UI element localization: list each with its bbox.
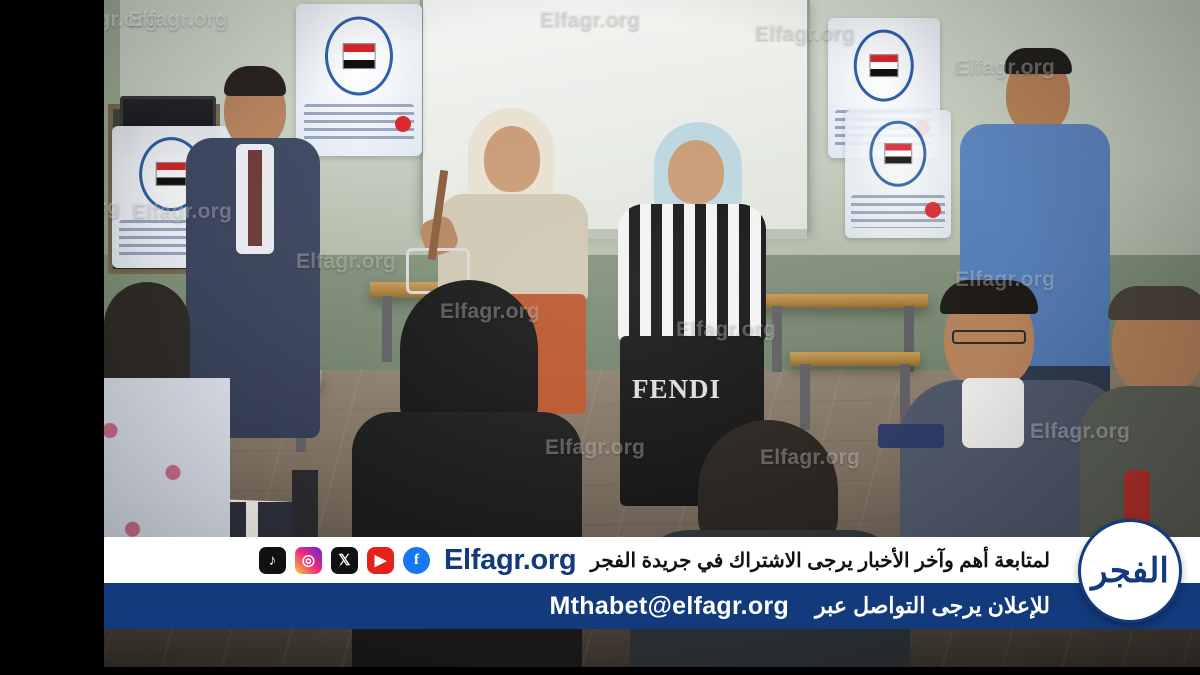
poster-flag-3: [869, 54, 898, 78]
facebook-icon[interactable]: f: [403, 547, 430, 574]
desk-leg: [772, 306, 782, 372]
necktie: [248, 150, 262, 246]
promo-banner: ♪ ◎ 𝕏 ▶ f Elfagr.org لمتابعة أهم وآخر ال…: [104, 537, 1200, 629]
screenshot-root: FENDI: [0, 0, 1200, 675]
poster-dot-4: [925, 202, 941, 218]
patterned-sweater: [618, 204, 766, 344]
eyeglasses: [952, 330, 1026, 344]
elfagr-logo: الفجر: [1078, 519, 1182, 623]
coat-brand-text: FENDI: [632, 374, 728, 408]
shirt-collar: [962, 378, 1024, 448]
poster-dot-1: [395, 116, 411, 132]
x-twitter-icon[interactable]: 𝕏: [331, 547, 358, 574]
social-icon-group: ♪ ◎ 𝕏 ▶ f: [259, 547, 430, 574]
banner-top-row: ♪ ◎ 𝕏 ▶ f Elfagr.org لمتابعة أهم وآخر ال…: [104, 537, 1200, 583]
poster-flag-1: [343, 43, 376, 69]
left-black-bar: [0, 0, 104, 675]
hair: [1004, 48, 1072, 74]
contact-email[interactable]: Mthabet@elfagr.org: [550, 592, 790, 621]
poster-flag-4: [884, 143, 912, 165]
blue-box-object: [878, 424, 944, 448]
brand-name: Elfagr.org: [444, 544, 576, 577]
head: [668, 140, 724, 204]
youtube-icon[interactable]: ▶: [367, 547, 394, 574]
tiktok-icon[interactable]: ♪: [259, 547, 286, 574]
head: [484, 126, 540, 192]
elfagr-logo-text: الفجر: [1091, 551, 1169, 591]
hair: [940, 280, 1038, 314]
subscribe-text-arabic: لمتابعة أهم وآخر الأخبار يرجى الاشتراك ف…: [590, 548, 1050, 573]
person-woman-fendi: FENDI: [612, 122, 770, 452]
bottom-black-bar: [0, 667, 1200, 675]
instagram-icon[interactable]: ◎: [295, 547, 322, 574]
advertising-text-arabic: للإعلان يرجى التواصل عبر: [815, 593, 1050, 619]
poster-4: [845, 110, 951, 238]
hair: [1108, 286, 1200, 320]
banner-bottom-row: Mthabet@elfagr.org للإعلان يرجى التواصل …: [104, 583, 1200, 629]
